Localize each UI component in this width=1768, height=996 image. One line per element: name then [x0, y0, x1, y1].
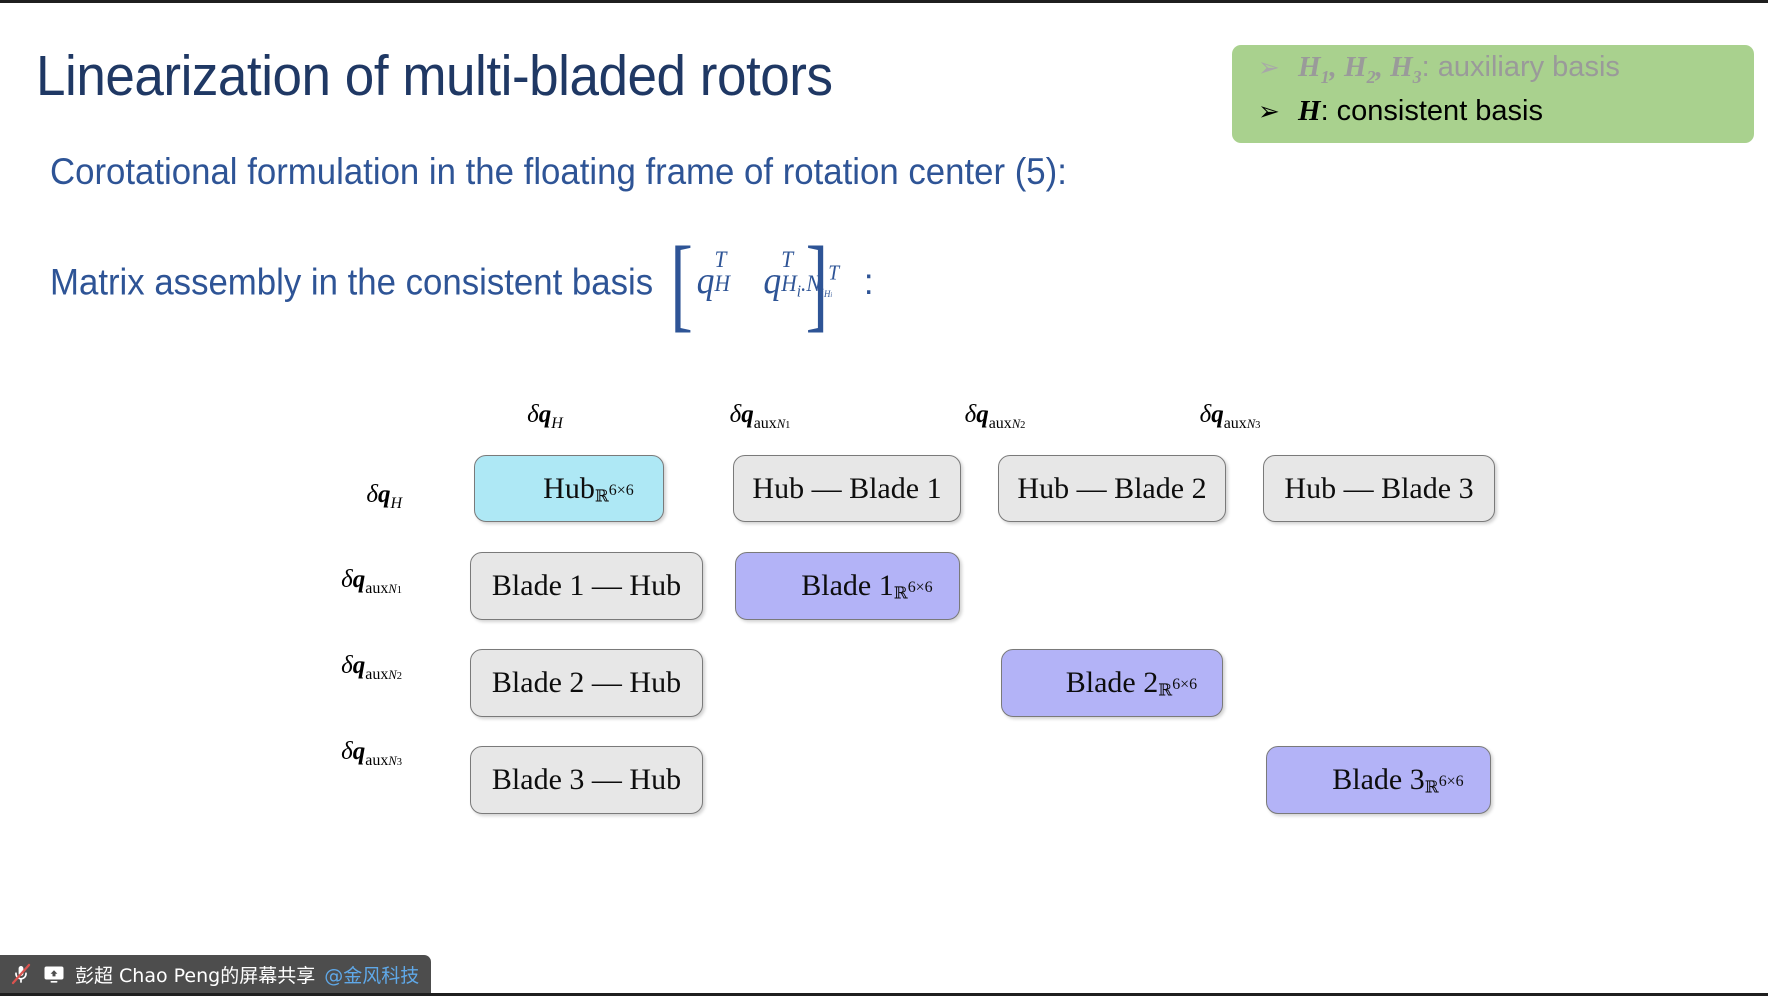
matrix-assembly-diagram: δqH δqauxN1 δqauxN2 δqauxN3 δqH δqauxN1 …	[0, 3, 1768, 996]
matrix-cell-label: Blade 3 — Hub	[492, 763, 681, 797]
matrix-cell-hub-hub[interactable]: Hubℝ6×6	[474, 455, 664, 522]
matrix-cell-label: Blade 1	[801, 569, 893, 602]
matrix-cell-label: Hub — Blade 3	[1284, 472, 1473, 506]
matrix-row-header-3: δqauxN3	[230, 738, 402, 770]
matrix-row-header-1: δqauxN1	[230, 566, 402, 598]
matrix-cell-blade2-hub[interactable]: Blade 2 — Hub	[470, 649, 703, 717]
matrix-cell-blade1-hub[interactable]: Blade 1 — Hub	[470, 552, 703, 620]
screen-share-handle: @金风科技	[324, 961, 419, 988]
matrix-cell-hub-blade1[interactable]: Hub — Blade 1	[733, 455, 961, 522]
matrix-row-header-0: δqH	[250, 481, 402, 513]
matrix-cell-label: Blade 3	[1332, 763, 1424, 796]
screen-share-label: 彭超 Chao Peng的屏幕共享	[75, 961, 315, 988]
presentation-slide: Linearization of multi-bladed rotors ➢ H…	[0, 0, 1768, 996]
matrix-cell-label: Blade 2 — Hub	[492, 666, 681, 700]
matrix-column-header-1: δqauxN1	[665, 401, 855, 433]
matrix-cell-blade2-blade2[interactable]: Blade 2ℝ6×6	[1001, 649, 1223, 717]
matrix-cell-dimension: ℝ6×6	[894, 579, 933, 604]
matrix-cell-blade1-blade1[interactable]: Blade 1ℝ6×6	[735, 552, 960, 620]
screen-share-taskbar[interactable]: 彭超 Chao Peng的屏幕共享 @金风科技	[0, 955, 431, 993]
matrix-cell-label: Hub — Blade 2	[1017, 472, 1206, 506]
matrix-cell-dimension: ℝ6×6	[1158, 676, 1197, 701]
matrix-cell-label: Hub — Blade 1	[752, 472, 941, 506]
matrix-cell-label: Blade 2	[1066, 666, 1158, 699]
matrix-column-header-2: δqauxN2	[900, 401, 1090, 433]
screen-share-icon[interactable]	[42, 962, 66, 986]
matrix-cell-hub-blade3[interactable]: Hub — Blade 3	[1263, 455, 1495, 522]
matrix-row-header-2: δqauxN2	[230, 652, 402, 684]
matrix-cell-dimension: ℝ6×6	[595, 482, 634, 507]
matrix-cell-dimension: ℝ6×6	[1425, 773, 1464, 798]
matrix-cell-label: Hub	[543, 472, 595, 505]
matrix-cell-blade3-blade3[interactable]: Blade 3ℝ6×6	[1266, 746, 1491, 814]
matrix-cell-hub-blade2[interactable]: Hub — Blade 2	[998, 455, 1226, 522]
matrix-cell-label: Blade 1 — Hub	[492, 569, 681, 603]
microphone-muted-icon[interactable]	[9, 962, 33, 986]
matrix-cell-blade3-hub[interactable]: Blade 3 — Hub	[470, 746, 703, 814]
matrix-column-header-3: δqauxN3	[1135, 401, 1325, 433]
matrix-column-header-0: δqH	[460, 401, 630, 433]
